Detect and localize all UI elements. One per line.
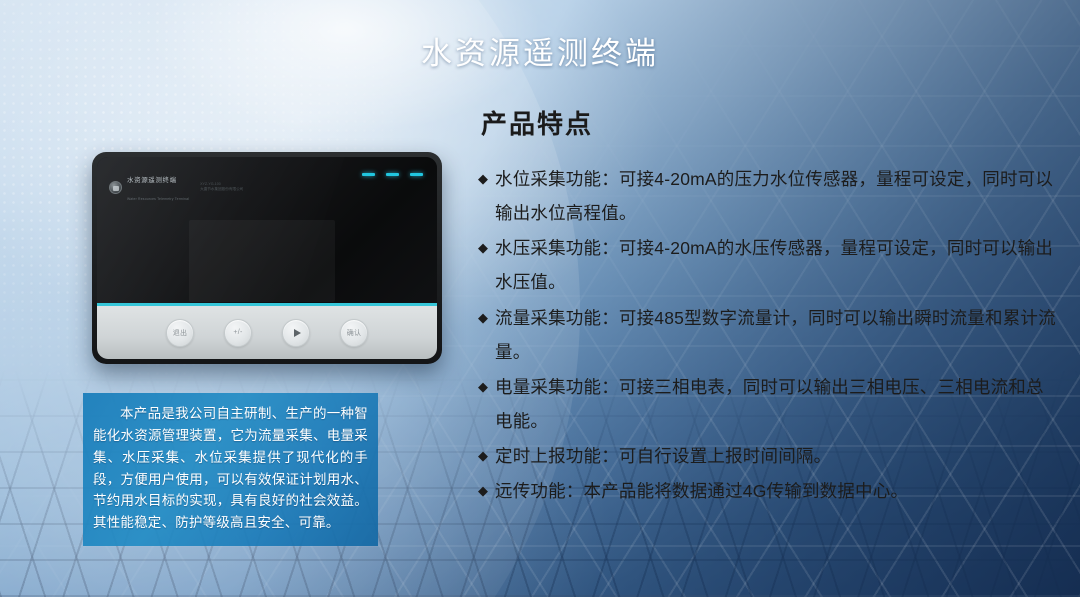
device-led-indicators — [362, 173, 423, 176]
plus-minus-button[interactable]: +/- — [224, 319, 252, 347]
play-button[interactable] — [282, 319, 310, 347]
bullet-diamond-icon: ◆ — [478, 162, 495, 196]
device-model-text: XYZ-YG-100 大唐节水集团股份有限公司 — [200, 182, 243, 192]
list-item-label: 流量采集功能：可接485型数字流量计，同时可以输出瞬时流量和累计流量。 — [495, 301, 1058, 369]
led-status-icon — [410, 173, 423, 176]
device-brand-cn: 水资源遥测终端 — [127, 177, 177, 184]
device-brand-en: Water Resources Telemetry Terminal — [127, 197, 189, 201]
slide-canvas: 水资源遥测终端 水资源遥测终端 Water Resources Telemetr… — [0, 0, 1080, 597]
device-model-line1: XYZ-YG-100 — [200, 182, 221, 186]
device-brand-text: 水资源遥测终端 Water Resources Telemetry Termin… — [127, 169, 189, 205]
list-item: ◆ 远传功能：本产品能将数据通过4G传输到数据中心。 — [478, 474, 1058, 508]
list-item-label: 电量采集功能：可接三相电表，同时可以输出三相电压、三相电流和总电能。 — [495, 370, 1058, 438]
play-triangle-icon — [294, 329, 301, 337]
device-branding: 水资源遥测终端 Water Resources Telemetry Termin… — [109, 169, 243, 205]
led-signal-icon — [386, 173, 399, 176]
list-item: ◆ 电量采集功能：可接三相电表，同时可以输出三相电压、三相电流和总电能。 — [478, 370, 1058, 438]
list-item: ◆ 水压采集功能：可接4-20mA的水压传感器，量程可设定，同时可以输出水压值。 — [478, 231, 1058, 299]
list-item-label: 水位采集功能：可接4-20mA的压力水位传感器，量程可设定，同时可以输出水位高程… — [495, 162, 1058, 230]
product-description-box: 本产品是我公司自主研制、生产的一种智能化水资源管理装置，它为流量采集、电量采集、… — [83, 393, 378, 546]
confirm-button[interactable]: 确认 — [340, 319, 368, 347]
bullet-diamond-icon: ◆ — [478, 474, 495, 508]
list-item-label: 定时上报功能：可自行设置上报时间间隔。 — [495, 439, 1058, 473]
device-button-bar: 退出 +/- 确认 — [97, 303, 437, 359]
page-title: 水资源遥测终端 — [0, 28, 1080, 73]
bullet-diamond-icon: ◆ — [478, 370, 495, 404]
bullet-diamond-icon: ◆ — [478, 231, 495, 265]
led-power-icon — [362, 173, 375, 176]
list-item-label: 水压采集功能：可接4-20mA的水压传感器，量程可设定，同时可以输出水压值。 — [495, 231, 1058, 299]
features-list: ◆ 水位采集功能：可接4-20mA的压力水位传感器，量程可设定，同时可以输出水位… — [478, 162, 1058, 509]
device-body: 水资源遥测终端 Water Resources Telemetry Termin… — [92, 152, 442, 364]
company-logo-icon — [109, 181, 122, 194]
bullet-diamond-icon: ◆ — [478, 439, 495, 473]
list-item: ◆ 水位采集功能：可接4-20mA的压力水位传感器，量程可设定，同时可以输出水位… — [478, 162, 1058, 230]
list-item: ◆ 流量采集功能：可接485型数字流量计，同时可以输出瞬时流量和累计流量。 — [478, 301, 1058, 369]
exit-button[interactable]: 退出 — [166, 319, 194, 347]
list-item-label: 远传功能：本产品能将数据通过4G传输到数据中心。 — [495, 474, 1058, 508]
bullet-diamond-icon: ◆ — [478, 301, 495, 335]
device-display-screen — [189, 220, 335, 303]
device-face: 水资源遥测终端 Water Resources Telemetry Termin… — [97, 157, 437, 359]
list-item: ◆ 定时上报功能：可自行设置上报时间间隔。 — [478, 439, 1058, 473]
features-heading: 产品特点 — [481, 104, 593, 141]
device-model-line2: 大唐节水集团股份有限公司 — [200, 187, 243, 191]
product-image: 水资源遥测终端 Water Resources Telemetry Termin… — [92, 152, 442, 364]
